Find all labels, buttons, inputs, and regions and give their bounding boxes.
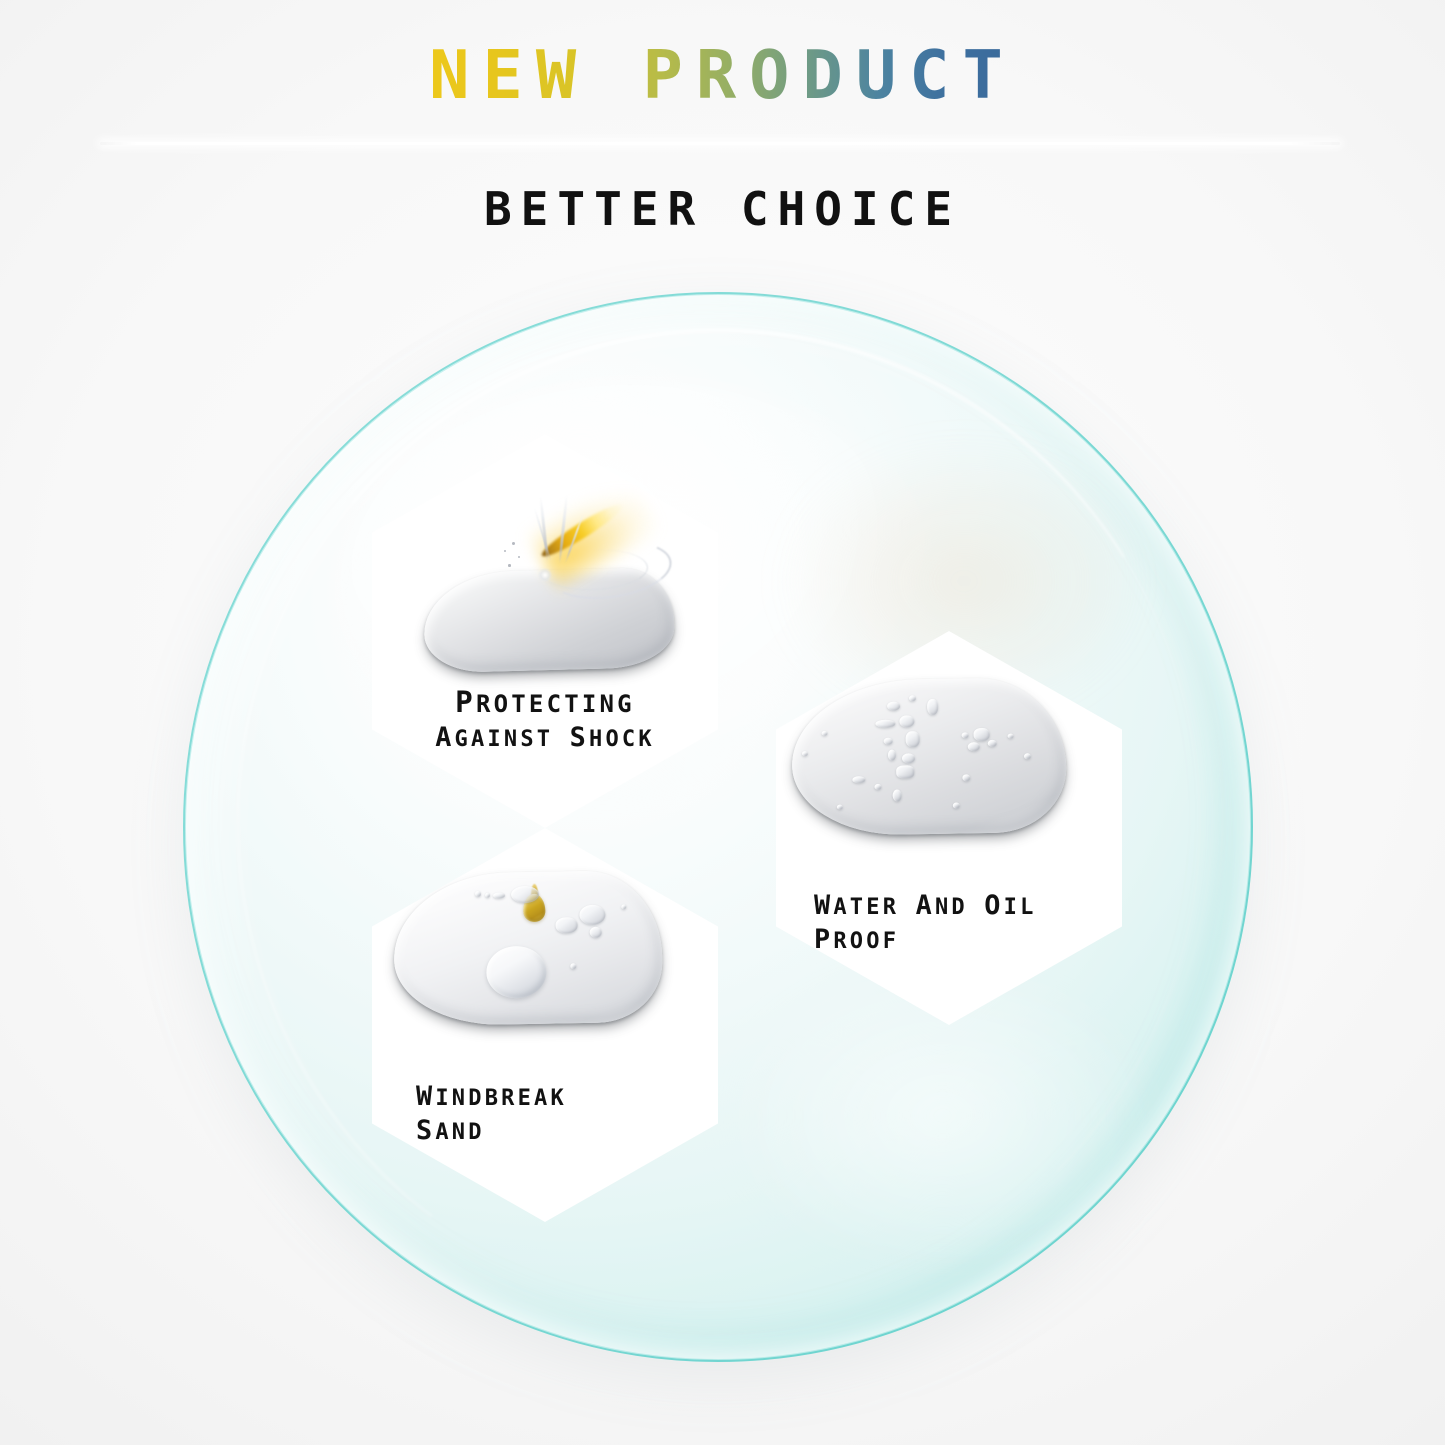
title-divider xyxy=(100,140,1340,148)
water-droplet xyxy=(590,927,602,938)
water-droplet xyxy=(884,738,893,745)
water-droplet xyxy=(485,893,490,898)
sunglass-lens-water-icon xyxy=(791,677,1068,837)
water-droplet xyxy=(906,731,920,747)
sunglass-lens-shock-icon xyxy=(423,567,676,674)
spark-core xyxy=(538,498,627,562)
water-droplet xyxy=(988,740,997,747)
feature-caption-water-oil: WATER AND OIL PROOF xyxy=(776,889,1122,958)
page-subtitle: BETTER CHOICE xyxy=(0,182,1445,236)
caption-line-2: PROOF xyxy=(814,923,1122,957)
water-droplet xyxy=(822,731,828,736)
water-droplet xyxy=(475,891,481,897)
water-droplet xyxy=(927,699,938,715)
product-banner: NEW PRODUCT BETTER CHOICE xyxy=(0,0,1445,1445)
water-droplet xyxy=(893,789,902,801)
water-droplet xyxy=(493,892,505,898)
water-droplet xyxy=(579,905,605,925)
debris-particle xyxy=(518,556,520,558)
spark-tail-2 xyxy=(558,494,568,564)
water-droplet xyxy=(887,701,900,710)
debris-particle xyxy=(512,542,515,545)
water-droplet xyxy=(1008,734,1014,739)
water-droplet xyxy=(570,963,576,969)
water-droplet xyxy=(962,732,969,738)
water-droplet xyxy=(909,695,916,701)
water-droplet xyxy=(802,751,808,756)
sunglass-lens-windbreak-icon xyxy=(393,870,664,1027)
debris-particle xyxy=(504,550,506,552)
feature-caption-shock: PROTECTING AGAINST SHOCK xyxy=(372,684,718,756)
water-droplet xyxy=(953,802,960,808)
water-droplet xyxy=(837,805,843,810)
water-droplet xyxy=(902,753,915,763)
water-droplet xyxy=(899,715,914,727)
spark-tail-3 xyxy=(533,506,552,562)
water-droplet xyxy=(875,720,895,728)
water-droplet xyxy=(621,904,626,909)
header: NEW PRODUCT xyxy=(0,0,1445,109)
water-droplet xyxy=(962,774,970,781)
water-droplet xyxy=(896,765,914,778)
water-droplet xyxy=(1024,753,1031,759)
large-water-droplet xyxy=(486,946,547,999)
water-droplet xyxy=(968,742,980,751)
water-droplet xyxy=(874,784,881,790)
water-droplet xyxy=(555,917,577,933)
caption-line-2: AGAINST SHOCK xyxy=(372,721,718,755)
caption-line-2: SAND xyxy=(416,1114,718,1148)
caption-line-1: PROTECTING xyxy=(372,684,718,721)
debris-particle xyxy=(508,564,511,567)
divider-line xyxy=(100,142,1340,145)
water-droplet xyxy=(852,776,865,783)
water-droplet xyxy=(888,750,896,761)
page-title: NEW PRODUCT xyxy=(423,42,1022,109)
water-droplet xyxy=(974,728,990,741)
spark-tail-4 xyxy=(564,513,584,564)
caption-line-1: WINDBREAK xyxy=(416,1080,718,1114)
spark-tail-1 xyxy=(539,496,548,562)
caption-line-1: WATER AND OIL xyxy=(814,889,1122,923)
feature-caption-windbreak: WINDBREAK SAND xyxy=(372,1080,718,1149)
